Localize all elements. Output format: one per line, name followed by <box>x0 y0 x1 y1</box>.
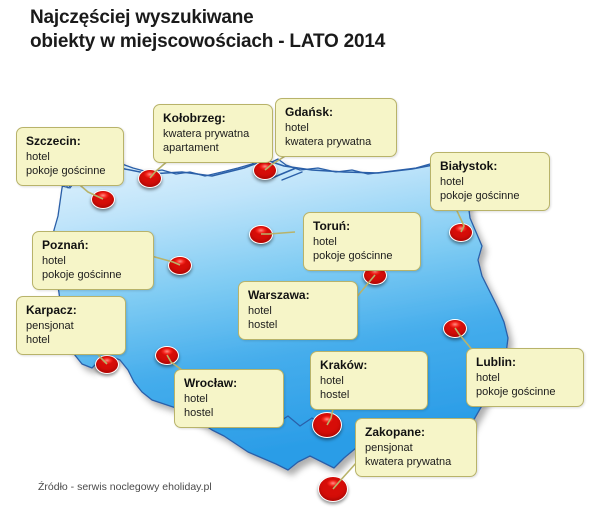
callout-city-karpacz: Karpacz: <box>26 303 116 318</box>
callout-item-kolobrzeg-0: kwatera prywatna <box>163 127 263 141</box>
callout-torun[interactable]: Toruń:hotelpokoje gościnne <box>303 212 421 271</box>
callout-szczecin[interactable]: Szczecin:hotelpokoje gościnne <box>16 127 124 186</box>
callout-item-poznan-1: pokoje gościnne <box>42 268 144 282</box>
callout-item-bialystok-1: pokoje gościnne <box>440 189 540 203</box>
map-pin-lublin[interactable] <box>443 319 467 338</box>
callout-bialystok[interactable]: Białystok:hotelpokoje gościnne <box>430 152 550 211</box>
callout-item-szczecin-1: pokoje gościnne <box>26 164 114 178</box>
callout-karpacz[interactable]: Karpacz:pensjonathotel <box>16 296 126 355</box>
callout-city-warszawa: Warszawa: <box>248 288 348 303</box>
callout-item-krakow-1: hostel <box>320 388 418 402</box>
callout-item-gdansk-0: hotel <box>285 121 387 135</box>
map-pin-poznan[interactable] <box>168 256 192 275</box>
callout-city-bialystok: Białystok: <box>440 159 540 174</box>
callout-city-torun: Toruń: <box>313 219 411 234</box>
title-line-2: obiekty w miejscowościach - LATO 2014 <box>30 31 385 52</box>
pin-disc-torun <box>249 225 273 244</box>
map-pin-zakopane[interactable] <box>318 476 348 502</box>
callout-item-krakow-0: hotel <box>320 374 418 388</box>
infographic-root: Najczęściej wyszukiwane obiekty w miejsc… <box>0 0 600 520</box>
pin-disc-lublin <box>443 319 467 338</box>
pin-disc-wroclaw <box>155 346 179 365</box>
callout-item-zakopane-1: kwatera prywatna <box>365 455 467 469</box>
callout-item-karpacz-1: hotel <box>26 333 116 347</box>
callout-poznan[interactable]: Poznań:hotelpokoje gościnne <box>32 231 154 290</box>
callout-item-bialystok-0: hotel <box>440 175 540 189</box>
callout-kolobrzeg[interactable]: Kołobrzeg:kwatera prywatnaapartament <box>153 104 273 163</box>
callout-zakopane[interactable]: Zakopane:pensjonatkwatera prywatna <box>355 418 477 477</box>
pin-disc-bialystok <box>449 223 473 242</box>
page-title: Najczęściej wyszukiwane obiekty w miejsc… <box>30 6 385 55</box>
callout-item-szczecin-0: hotel <box>26 150 114 164</box>
callout-city-zakopane: Zakopane: <box>365 425 467 440</box>
callout-item-gdansk-1: kwatera prywatna <box>285 135 387 149</box>
map-pin-krakow[interactable] <box>312 412 342 438</box>
pin-disc-kolobrzeg <box>138 169 162 188</box>
map-pin-wroclaw[interactable] <box>155 346 179 365</box>
callout-item-karpacz-0: pensjonat <box>26 319 116 333</box>
callout-item-kolobrzeg-1: apartament <box>163 141 263 155</box>
callout-city-szczecin: Szczecin: <box>26 134 114 149</box>
pin-disc-karpacz <box>95 355 119 374</box>
map-pin-torun[interactable] <box>249 225 273 244</box>
callout-city-poznan: Poznań: <box>42 238 144 253</box>
pin-disc-krakow <box>312 412 342 438</box>
title-line-1: Najczęściej wyszukiwane <box>30 7 254 28</box>
callout-city-wroclaw: Wrocław: <box>184 376 274 391</box>
callout-item-warszawa-1: hostel <box>248 318 348 332</box>
callout-city-krakow: Kraków: <box>320 358 418 373</box>
callout-item-lublin-0: hotel <box>476 371 574 385</box>
callout-item-wroclaw-1: hostel <box>184 406 274 420</box>
map-pin-bialystok[interactable] <box>449 223 473 242</box>
callout-city-gdansk: Gdańsk: <box>285 105 387 120</box>
pin-disc-zakopane <box>318 476 348 502</box>
callout-item-poznan-0: hotel <box>42 254 144 268</box>
pin-disc-szczecin <box>91 190 115 209</box>
callout-city-lublin: Lublin: <box>476 355 574 370</box>
callout-item-lublin-1: pokoje gościnne <box>476 385 574 399</box>
callout-warszawa[interactable]: Warszawa:hotelhostel <box>238 281 358 340</box>
callout-wroclaw[interactable]: Wrocław:hotelhostel <box>174 369 284 428</box>
pin-disc-poznan <box>168 256 192 275</box>
callout-item-warszawa-0: hotel <box>248 304 348 318</box>
callout-item-torun-1: pokoje gościnne <box>313 249 411 263</box>
map-pin-gdansk[interactable] <box>253 161 277 180</box>
source-credit: Źródło - serwis noclegowy eholiday.pl <box>38 481 212 493</box>
callout-item-torun-0: hotel <box>313 235 411 249</box>
callout-item-zakopane-0: pensjonat <box>365 441 467 455</box>
map-pin-szczecin[interactable] <box>91 190 115 209</box>
callout-krakow[interactable]: Kraków:hotelhostel <box>310 351 428 410</box>
pin-disc-gdansk <box>253 161 277 180</box>
map-pin-kolobrzeg[interactable] <box>138 169 162 188</box>
callout-item-wroclaw-0: hotel <box>184 392 274 406</box>
callout-gdansk[interactable]: Gdańsk:hotelkwatera prywatna <box>275 98 397 157</box>
callout-lublin[interactable]: Lublin:hotelpokoje gościnne <box>466 348 584 407</box>
map-pin-karpacz[interactable] <box>95 355 119 374</box>
callout-city-kolobrzeg: Kołobrzeg: <box>163 111 263 126</box>
